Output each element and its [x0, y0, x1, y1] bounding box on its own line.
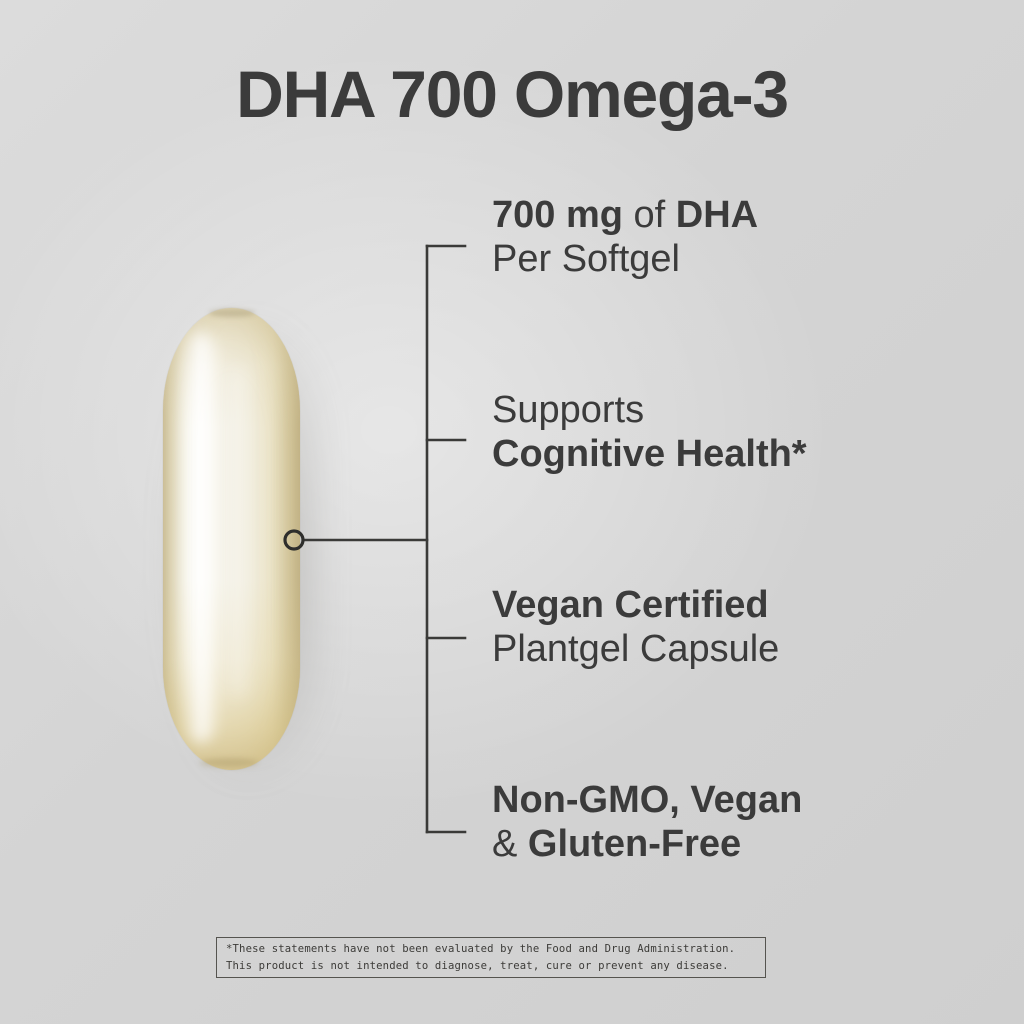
feature-dose-seg-1-1: 700 mg — [492, 194, 634, 236]
feature-dose-seg-2-1: Per Softgel — [492, 238, 680, 280]
capsule-body — [163, 308, 300, 770]
callout-connector-lines — [0, 0, 1024, 1024]
capsule-seam-bottom — [200, 758, 258, 767]
feature-cognitive-seg-2-1: Cognitive Health* — [492, 433, 807, 475]
feature-cognitive: SupportsCognitive Health* — [492, 388, 962, 477]
feature-cognitive-seg-1-1: Supports — [492, 389, 644, 431]
disclaimer-line-2: This product is not intended to diagnose… — [226, 958, 756, 974]
feature-non-gmo: Non-GMO, Vegan& Gluten-Free — [492, 778, 962, 867]
feature-non-gmo-seg-2-2: Gluten-Free — [528, 823, 741, 865]
disclaimer-line-1: *These statements have not been evaluate… — [226, 941, 756, 957]
feature-dose-line-2: Per Softgel — [492, 237, 962, 281]
feature-vegan-certified: Vegan CertifiedPlantgel Capsule — [492, 583, 962, 672]
feature-vegan-certified-line-2: Plantgel Capsule — [492, 627, 962, 671]
feature-non-gmo-seg-1-1: Non-GMO, Vegan — [492, 779, 802, 821]
feature-dose: 700 mg of DHAPer Softgel — [492, 193, 962, 282]
softgel-capsule-image — [163, 308, 300, 770]
feature-non-gmo-line-2: & Gluten-Free — [492, 822, 962, 866]
feature-vegan-certified-seg-2-1: Plantgel Capsule — [492, 628, 779, 670]
feature-dose-line-1: 700 mg of DHA — [492, 193, 962, 237]
fda-disclaimer-box: *These statements have not been evaluate… — [216, 937, 766, 978]
feature-non-gmo-line-1: Non-GMO, Vegan — [492, 778, 962, 822]
feature-dose-seg-1-2: of — [634, 194, 676, 236]
capsule-seam-top — [209, 309, 255, 317]
product-infographic: DHA 700 Omega-3 700 mg of DHAPer Softgel… — [0, 0, 1024, 1024]
feature-cognitive-line-1: Supports — [492, 388, 962, 432]
capsule-rim-shading — [163, 308, 300, 770]
page-title: DHA 700 Omega-3 — [0, 56, 1024, 132]
feature-cognitive-line-2: Cognitive Health* — [492, 432, 962, 476]
feature-non-gmo-seg-2-1: & — [492, 823, 528, 865]
feature-dose-seg-1-3: DHA — [676, 194, 758, 236]
feature-vegan-certified-line-1: Vegan Certified — [492, 583, 962, 627]
feature-vegan-certified-seg-1-1: Vegan Certified — [492, 584, 769, 626]
